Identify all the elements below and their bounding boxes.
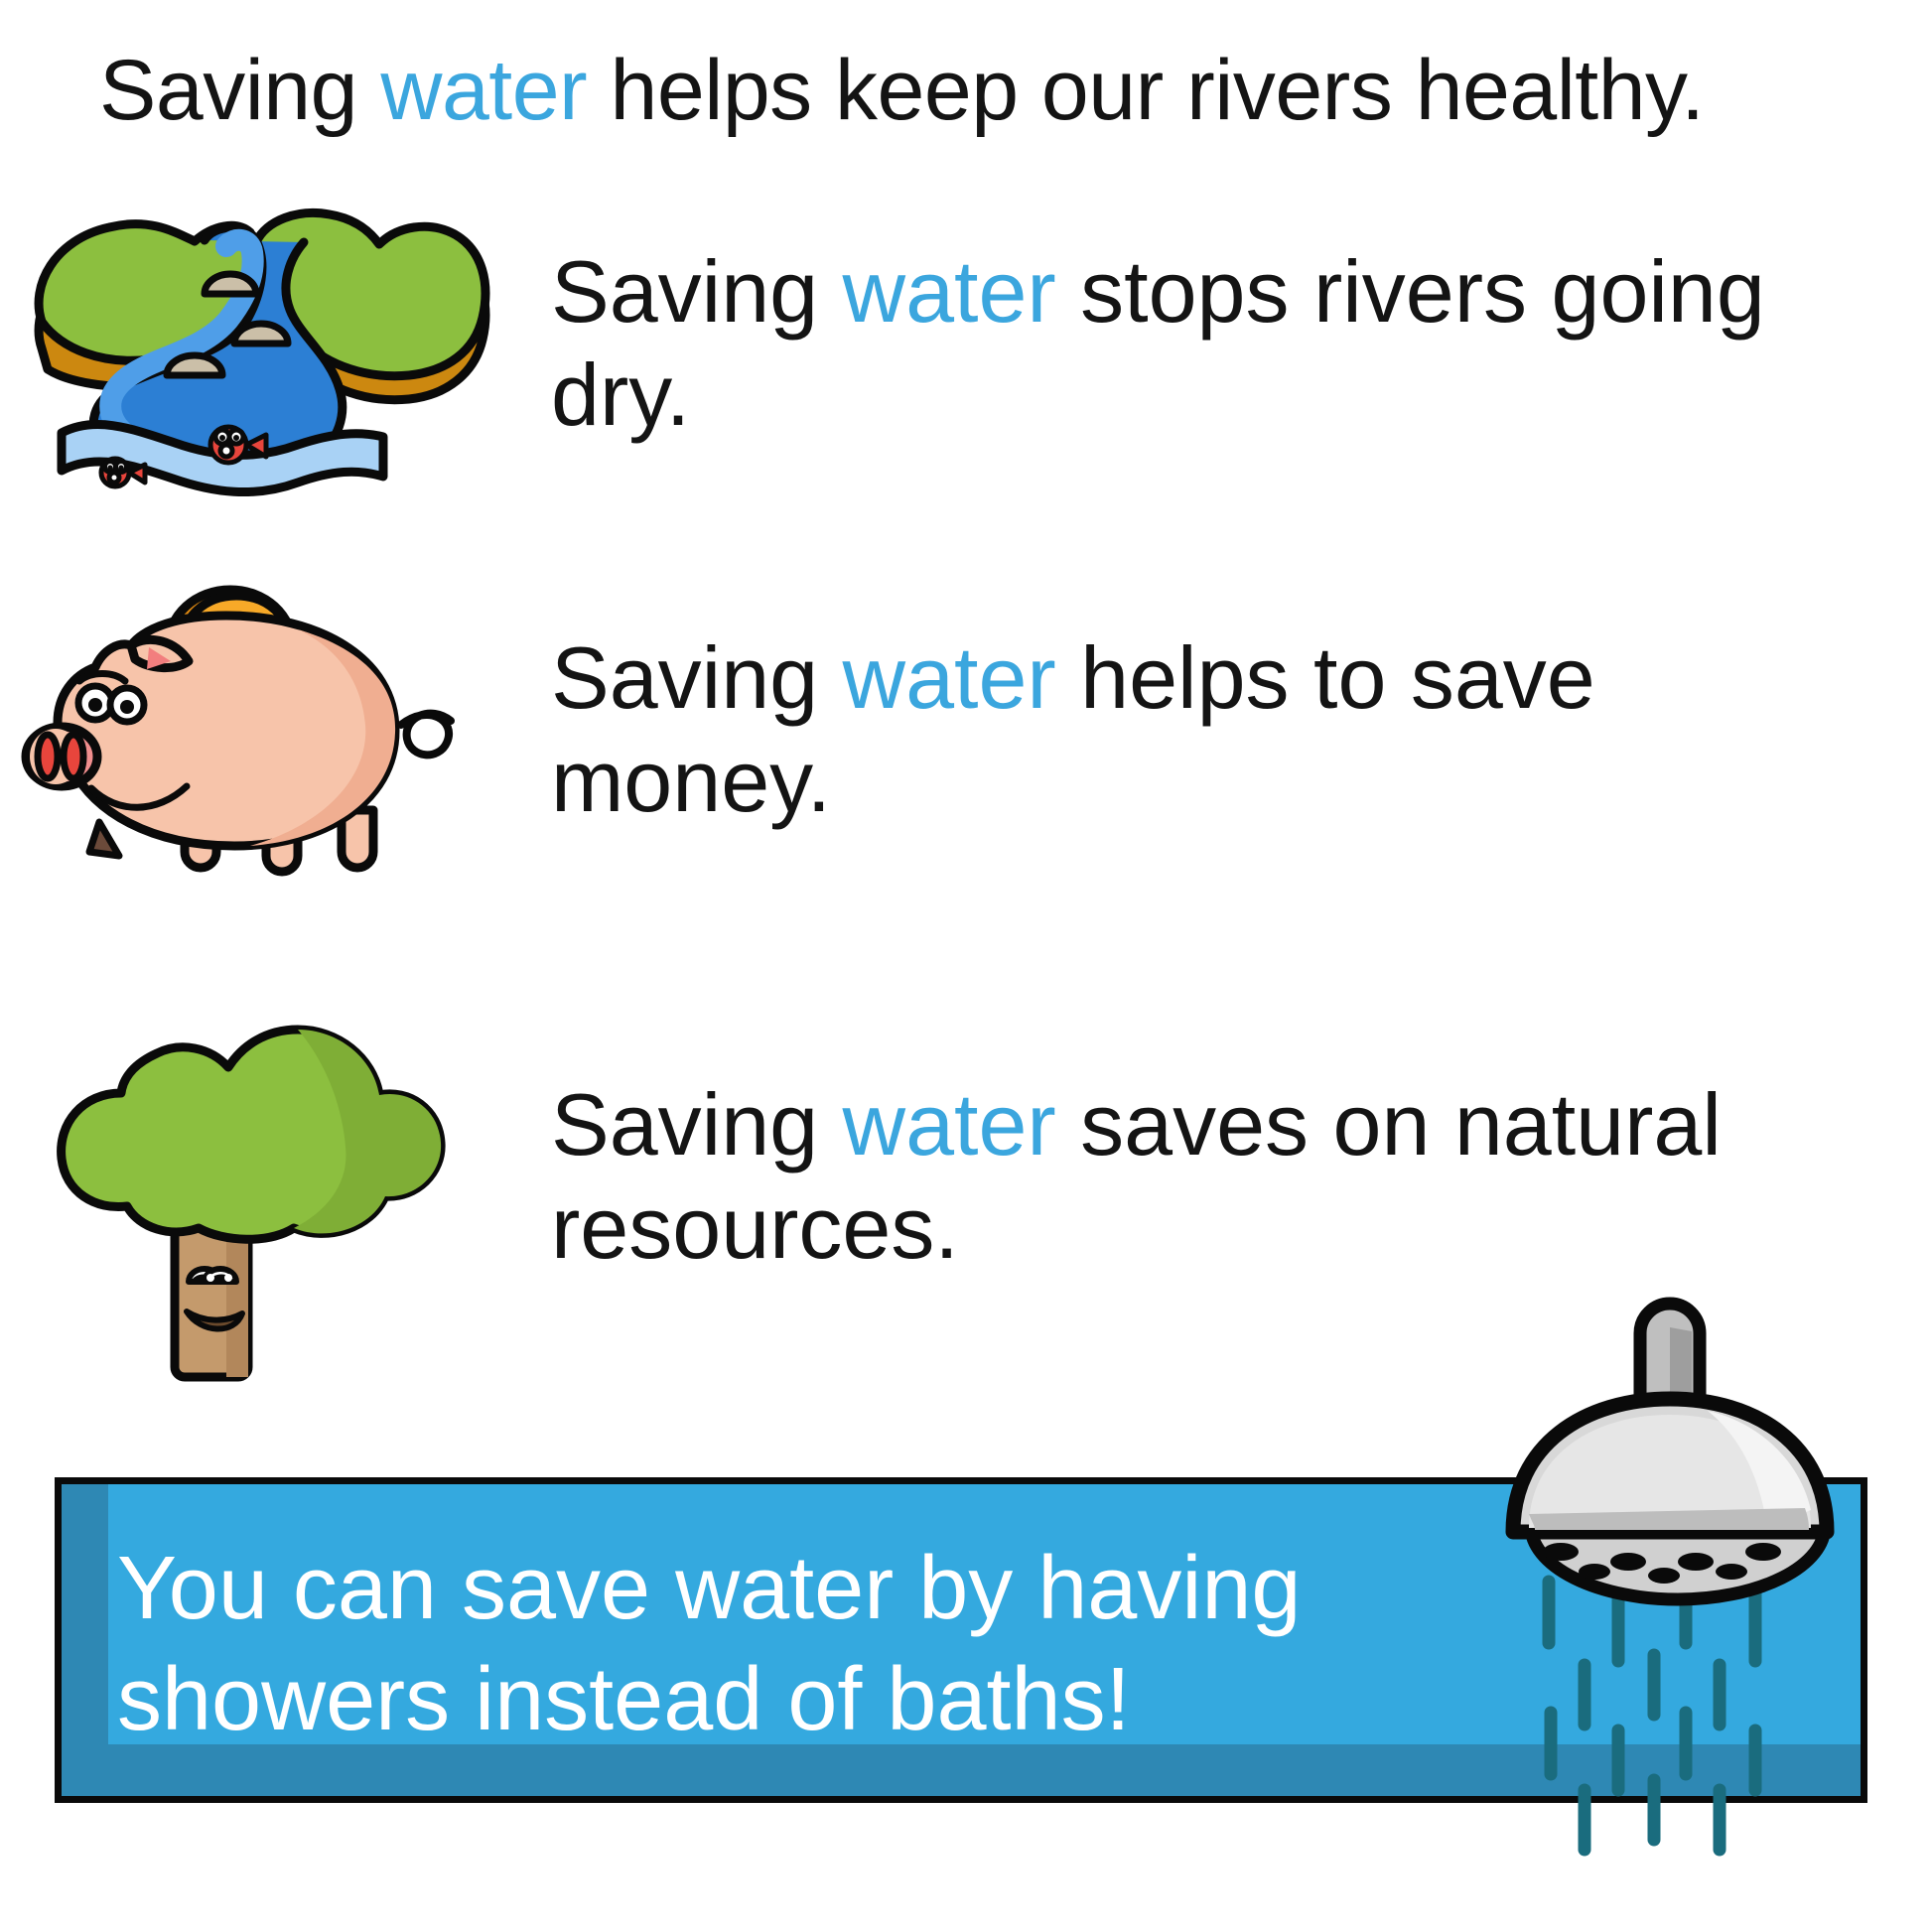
piggy-bank-icon — [0, 576, 516, 884]
fact-row-money: Saving water helps to save money. — [0, 576, 1932, 884]
tip-banner-line-1: You can save water by having — [117, 1534, 1338, 1645]
fact-text-accent-water: water — [843, 1075, 1056, 1173]
fact-text-before: Saving — [551, 242, 843, 341]
shower-head-icon — [1469, 1315, 1886, 1931]
page-title-after: helps keep our rivers healthy. — [587, 43, 1704, 138]
page-title: Saving water helps keep our rivers healt… — [99, 48, 1886, 133]
fact-row-resources-text: Saving water saves on natural resources. — [516, 1073, 1932, 1280]
page-title-accent-water: water — [380, 43, 587, 138]
tip-banner-text: You can save water by having showers ins… — [117, 1534, 1338, 1755]
fact-text-before: Saving — [551, 1075, 843, 1173]
tip-banner-line-2: showers instead of baths! — [117, 1645, 1338, 1756]
fact-row-river-text: Saving water stops rivers going dry. — [516, 240, 1932, 447]
tree-icon — [0, 968, 516, 1385]
fact-row-money-text: Saving water helps to save money. — [516, 626, 1932, 833]
fact-text-accent-water: water — [843, 242, 1056, 341]
fact-text-before: Saving — [551, 628, 843, 727]
water-saving-poster: Saving water helps keep our rivers healt… — [0, 0, 1932, 1932]
fact-row-river: Saving water stops rivers going dry. — [0, 195, 1932, 492]
river-landscape-icon — [0, 195, 516, 492]
page-title-before: Saving — [99, 43, 380, 138]
fact-text-accent-water: water — [843, 628, 1056, 727]
